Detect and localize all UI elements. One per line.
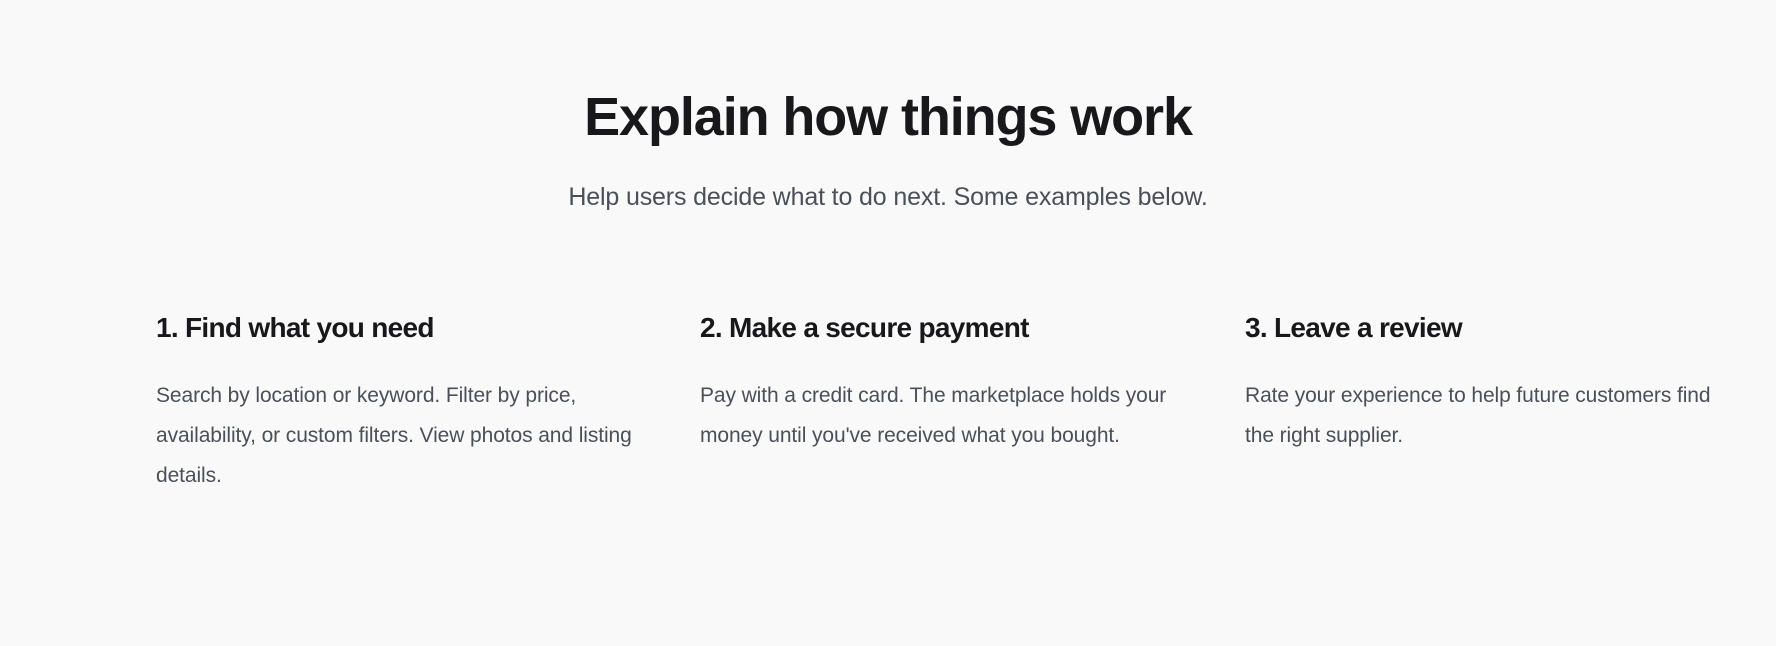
page-title: Explain how things work	[0, 86, 1776, 148]
step-item-3: 3. Leave a review Rate your experience t…	[1245, 311, 1720, 456]
step-heading-2: 2. Make a secure payment	[700, 311, 1205, 345]
step-heading-1: 1. Find what you need	[156, 311, 640, 345]
step-heading-3: 3. Leave a review	[1245, 311, 1720, 345]
section-header: Explain how things work Help users decid…	[0, 0, 1776, 213]
steps-list: 1. Find what you need Search by location…	[156, 213, 1620, 496]
step-body-1: Search by location or keyword. Filter by…	[156, 345, 640, 496]
page-subtitle: Help users decide what to do next. Some …	[0, 148, 1776, 213]
how-it-works-section: Explain how things work Help users decid…	[0, 0, 1776, 646]
step-item-1: 1. Find what you need Search by location…	[156, 311, 700, 496]
step-item-2: 2. Make a secure payment Pay with a cred…	[700, 311, 1245, 456]
step-body-3: Rate your experience to help future cust…	[1245, 345, 1720, 456]
step-body-2: Pay with a credit card. The marketplace …	[700, 345, 1205, 456]
